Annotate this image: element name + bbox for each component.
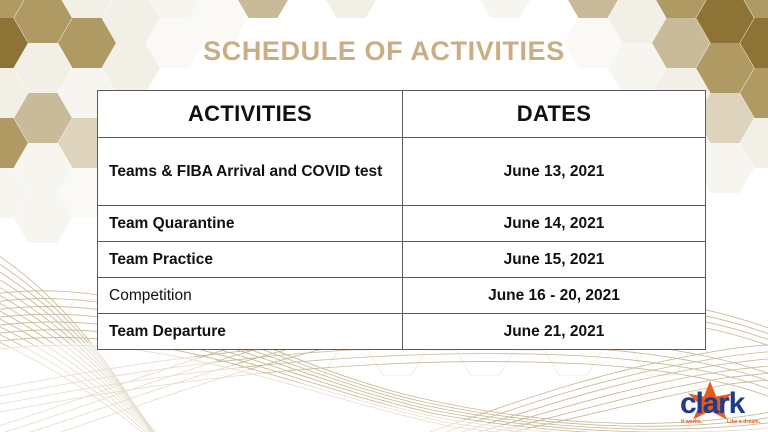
table-header-row: ACTIVITIES DATES — [98, 91, 706, 138]
table-row: Team Departure June 21, 2021 — [98, 314, 706, 350]
date-cell: June 15, 2021 — [403, 242, 706, 278]
slide-canvas: SCHEDULE OF ACTIVITIES ACTIVITIES DATES … — [0, 0, 768, 432]
table-row: Team Practice June 15, 2021 — [98, 242, 706, 278]
activity-cell: Team Practice — [98, 242, 403, 278]
activity-cell: Teams & FIBA Arrival and COVID test — [98, 138, 403, 206]
column-header-activities: ACTIVITIES — [98, 91, 403, 138]
table-row: Team Quarantine June 14, 2021 — [98, 206, 706, 242]
schedule-table: ACTIVITIES DATES Teams & FIBA Arrival an… — [97, 90, 706, 350]
logo-tagline-right: Like a dream. — [727, 419, 761, 425]
table-row: Teams & FIBA Arrival and COVID test June… — [98, 138, 706, 206]
logo-tagline-left: It works. — [681, 419, 703, 425]
activity-cell: Team Quarantine — [98, 206, 403, 242]
date-cell: June 14, 2021 — [403, 206, 706, 242]
logo-wordmark: clark — [680, 387, 746, 420]
page-title: SCHEDULE OF ACTIVITIES — [0, 36, 768, 67]
date-cell: June 21, 2021 — [403, 314, 706, 350]
activity-cell: Competition — [98, 278, 403, 314]
clark-logo: clark It works. Like a dream. — [672, 380, 764, 426]
column-header-dates: DATES — [403, 91, 706, 138]
table-row: Competition June 16 - 20, 2021 — [98, 278, 706, 314]
date-cell: June 16 - 20, 2021 — [403, 278, 706, 314]
date-cell: June 13, 2021 — [403, 138, 706, 206]
activity-cell: Team Departure — [98, 314, 403, 350]
